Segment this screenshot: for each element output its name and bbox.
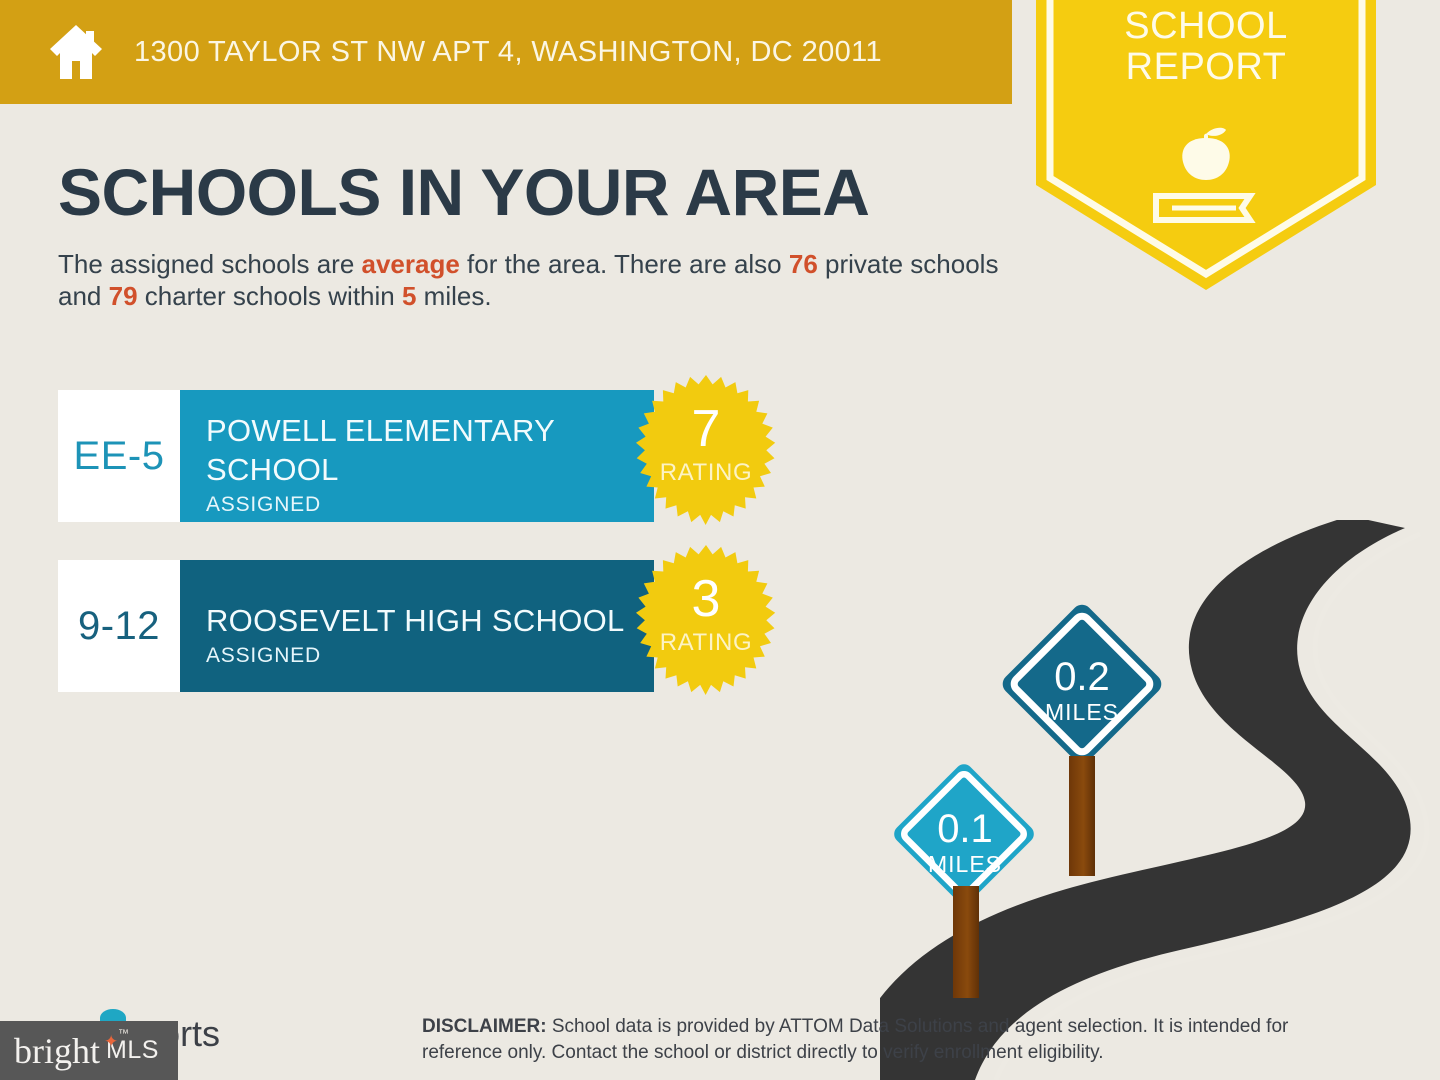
school-name: POWELL ELEMENTARY SCHOOL [206,411,654,489]
page-title: SCHOOLS IN YOUR AREA [58,158,869,226]
school-status: ASSIGNED [206,644,654,668]
sign-post [953,886,979,998]
summary-part-1: The assigned schools are [58,249,362,279]
summary-radius-miles: 5 [402,281,416,311]
summary-charter-count: 79 [109,281,138,311]
disclaimer-label: DISCLAIMER: [422,1016,547,1037]
grade-range-badge: EE-5 [58,390,180,522]
property-address: 1300 TAYLOR ST NW APT 4, WASHINGTON, DC … [134,36,882,69]
rating-value: 7 [623,403,789,455]
rating-label: RATING [623,629,789,657]
rating-starburst: 3 RATING [623,543,789,709]
sign-distance-value: 0.2 [986,656,1178,698]
sign-post [1069,756,1095,876]
mls-trademark-symbol: ™ [118,1028,129,1040]
mls-logo-name: bright [14,1033,100,1069]
sign-distance-unit: MILES [986,700,1178,725]
rating-value: 3 [623,573,789,625]
school-info-bar: ROOSEVELT HIGH SCHOOL ASSIGNED [180,560,654,692]
summary-text: The assigned schools are average for the… [58,248,1018,312]
school-row[interactable]: 9-12 ROOSEVELT HIGH SCHOOL ASSIGNED [58,560,654,692]
summary-rating-word: average [362,249,460,279]
school-info-bar: POWELL ELEMENTARY SCHOOL ASSIGNED [180,390,654,522]
distance-sign: 0.1 MILES [880,750,1050,980]
bright-mls-logo: bright MLS [0,1021,178,1080]
summary-part-2: for the area. There are also [460,249,789,279]
summary-private-count: 76 [789,249,818,279]
school-status: ASSIGNED [206,493,654,517]
disclaimer-body: School data is provided by ATTOM Data So… [422,1016,1288,1063]
badge-title-line1: SCHOOL [1036,6,1376,47]
rating-starburst: 7 RATING [623,373,789,539]
school-report-page: 1300 TAYLOR ST NW APT 4, WASHINGTON, DC … [0,0,1440,1080]
rating-label: RATING [623,459,789,487]
header-bar: 1300 TAYLOR ST NW APT 4, WASHINGTON, DC … [0,0,1012,104]
school-report-badge: SCHOOL REPORT [1036,0,1376,290]
school-name: ROOSEVELT HIGH SCHOOL [206,601,654,640]
disclaimer: DISCLAIMER: School data is provided by A… [422,1014,1364,1066]
sign-distance-value: 0.1 [880,808,1050,850]
sign-distance-unit: MILES [880,852,1050,877]
school-row[interactable]: EE-5 POWELL ELEMENTARY SCHOOL ASSIGNED [58,390,654,522]
summary-part-4: charter schools within [138,281,402,311]
badge-title-line2: REPORT [1036,47,1376,88]
home-icon [48,23,104,81]
badge-title: SCHOOL REPORT [1036,6,1376,88]
grade-range-badge: 9-12 [58,560,180,692]
summary-part-5: miles. [416,281,491,311]
